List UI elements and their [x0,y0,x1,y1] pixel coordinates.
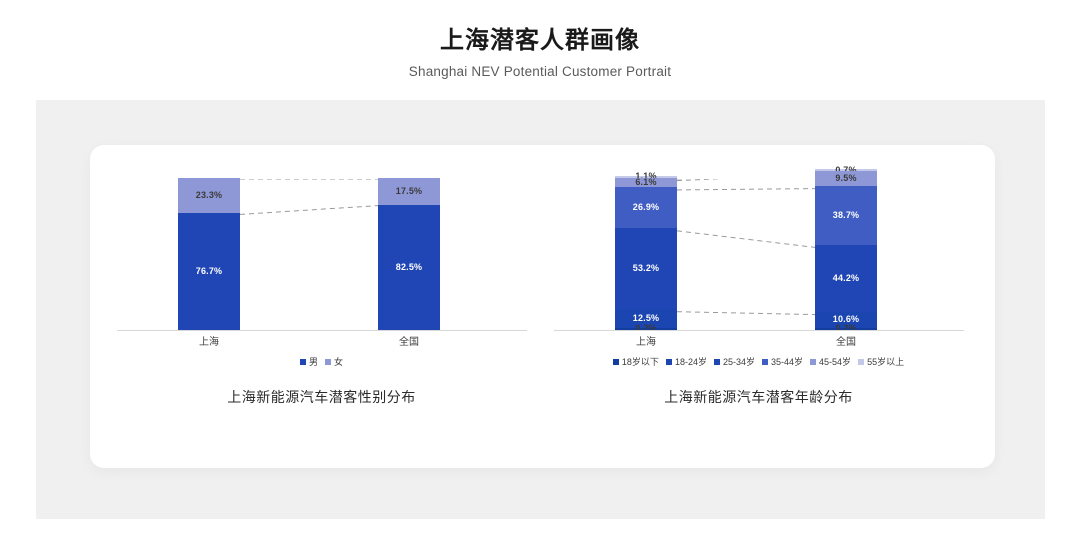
chart-legend: 18岁以下18-24岁25-34岁35-44岁45-54岁55岁以上 [540,355,977,368]
connector-line [677,312,815,315]
chart-caption: 上海新能源汽车潜客性别分布 [103,387,540,407]
x-axis-line [554,330,964,331]
legend-item[interactable]: 25-34岁 [714,355,755,368]
connector-line [240,206,378,215]
legend-label: 18岁以下 [622,355,659,368]
page-title: 上海潜客人群画像 [0,27,1080,56]
legend-swatch-icon [810,359,816,365]
bar-value-label: 76.7% [196,267,223,276]
bar-segment[interactable]: 76.7% [178,213,240,330]
page-header: 上海潜客人群画像 Shanghai NEV Potential Customer… [0,0,1080,79]
legend-label: 18-24岁 [675,355,707,368]
connector-lines [540,179,977,331]
x-axis-ticks: 上海 全国 [540,333,977,349]
chart-age: 1.1%6.1%26.9%53.2%12.5%0.2% 0.7%9.5%38.7… [540,179,977,459]
bar-value-label: 17.5% [396,187,423,196]
legend-label: 男 [309,355,318,368]
connector-lines [103,179,540,331]
legend-item[interactable]: 45-54岁 [810,355,851,368]
chart-age-plot: 1.1%6.1%26.9%53.2%12.5%0.2% 0.7%9.5%38.7… [540,179,977,331]
legend-item[interactable]: 女 [325,355,343,368]
x-tick-label: 全国 [815,333,877,348]
legend-swatch-icon [666,359,672,365]
legend-swatch-icon [858,359,864,365]
legend-label: 35-44岁 [771,355,803,368]
bar-segment[interactable]: 44.2% [815,245,877,312]
bar-segment[interactable]: 9.5% [815,171,877,185]
legend-swatch-icon [325,359,331,365]
bar-column[interactable]: 0.7%9.5%38.7%44.2%10.6%0.2% [815,169,877,330]
legend-item[interactable]: 男 [300,355,318,368]
bar-column[interactable]: 1.1%6.1%26.9%53.2%12.5%0.2% [615,176,677,330]
bar-value-label: 44.2% [833,274,860,283]
bar-segment[interactable]: 23.3% [178,178,240,213]
bar-column[interactable]: 17.5%82.5% [378,178,440,330]
bar-value-label: 26.9% [633,203,660,212]
bar-value-label: 53.2% [633,264,660,273]
chart-gender: 23.3%76.7% 17.5%82.5% 上海 全国 男女 上海新能源汽车潜客… [103,179,540,459]
bar-value-label: 9.5% [835,174,856,183]
bar-segment[interactable]: 6.1% [615,178,677,187]
x-tick-label: 上海 [615,333,677,348]
page-subtitle: Shanghai NEV Potential Customer Portrait [0,64,1080,79]
x-tick-label: 上海 [178,333,240,348]
connector-line [677,179,815,181]
bar-value-label: 12.5% [633,314,660,323]
legend-swatch-icon [714,359,720,365]
bar-column[interactable]: 23.3%76.7% [178,178,240,330]
x-axis-ticks: 上海 全国 [103,333,540,349]
bar-segment[interactable]: 26.9% [615,187,677,228]
bar-segment[interactable]: 82.5% [378,205,440,330]
legend-item[interactable]: 55岁以上 [858,355,904,368]
bar-value-label: 6.1% [635,178,656,187]
legend-item[interactable]: 35-44岁 [762,355,803,368]
legend-swatch-icon [762,359,768,365]
legend-label: 55岁以上 [867,355,904,368]
slide-page: 上海潜客人群画像 Shanghai NEV Potential Customer… [0,0,1080,547]
legend-item[interactable]: 18-24岁 [666,355,707,368]
connector-line [677,189,815,190]
bar-segment[interactable]: 17.5% [378,178,440,205]
chart-caption: 上海新能源汽车潜客年龄分布 [540,387,977,407]
legend-swatch-icon [300,359,306,365]
charts-card: 23.3%76.7% 17.5%82.5% 上海 全国 男女 上海新能源汽车潜客… [90,145,995,468]
x-tick-label: 全国 [378,333,440,348]
bar-value-label: 38.7% [833,211,860,220]
connector-line [677,231,815,248]
bar-value-label: 23.3% [196,191,223,200]
bar-value-label: 82.5% [396,263,423,272]
chart-legend: 男女 [103,355,540,368]
bar-segment[interactable]: 53.2% [615,228,677,309]
legend-label: 45-54岁 [819,355,851,368]
legend-swatch-icon [613,359,619,365]
legend-item[interactable]: 18岁以下 [613,355,659,368]
legend-label: 女 [334,355,343,368]
x-axis-line [117,330,527,331]
bar-segment[interactable]: 38.7% [815,186,877,245]
chart-gender-plot: 23.3%76.7% 17.5%82.5% [103,179,540,331]
legend-label: 25-34岁 [723,355,755,368]
